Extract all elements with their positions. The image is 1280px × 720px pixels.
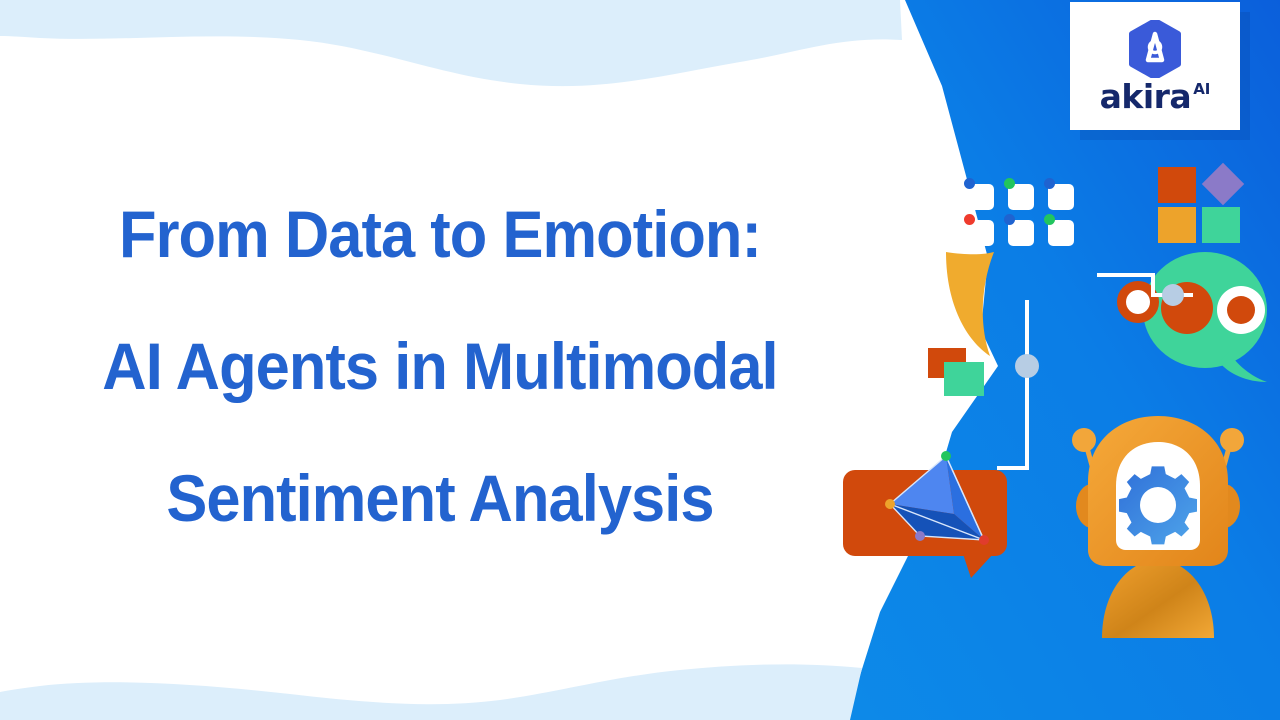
headline-line-1: From Data to Emotion:	[31, 168, 849, 300]
headline-line-3: Sentiment Analysis	[31, 432, 849, 564]
akira-hexagon-a-mark	[1128, 20, 1182, 78]
amber-crescent	[938, 252, 1000, 362]
logo-superscript-text: AI	[1193, 82, 1210, 97]
connector-line-top	[1097, 267, 1217, 309]
banner-canvas: From Data to Emotion: AI Agents in Multi…	[0, 0, 1280, 720]
headline-line-2: AI Agents in Multimodal	[31, 300, 849, 432]
white-tile-grid	[968, 176, 1074, 238]
akira-wordmark: akira AI	[1100, 80, 1211, 113]
orange-square	[1158, 167, 1196, 203]
page-title: From Data to Emotion: AI Agents in Multi…	[0, 168, 880, 564]
blue-tetrahedron	[880, 448, 1000, 558]
akira-ai-logo-card[interactable]: akira AI	[1070, 2, 1240, 130]
square-cluster	[1158, 167, 1254, 245]
green-square	[1202, 207, 1240, 243]
purple-diamond	[1202, 163, 1244, 205]
logo-word-text: akira	[1100, 80, 1192, 113]
amber-square	[1158, 207, 1196, 243]
mini-green-square	[944, 362, 984, 396]
mini-square-pair	[928, 348, 1000, 400]
robot-with-gear	[1058, 410, 1258, 645]
